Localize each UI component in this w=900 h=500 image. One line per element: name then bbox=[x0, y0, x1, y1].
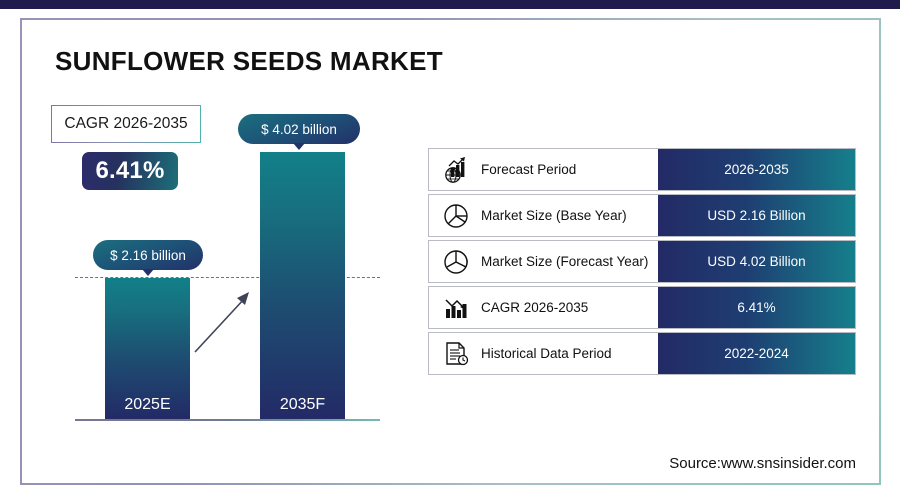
table-row-value: 6.41% bbox=[658, 287, 855, 328]
table-row: Market Size (Forecast Year) USD 4.02 Bil… bbox=[428, 240, 856, 283]
chart-baseline-axis bbox=[75, 419, 380, 421]
table-row: Forecast Period 2026-2035 bbox=[428, 148, 856, 191]
bar-value-label-2035f: $ 4.02 billion bbox=[261, 122, 337, 137]
table-row-value: USD 4.02 Billion bbox=[658, 241, 855, 282]
table-row-label: Market Size (Forecast Year) bbox=[481, 254, 648, 269]
table-row-label: Forecast Period bbox=[481, 162, 576, 177]
table-row-label: Market Size (Base Year) bbox=[481, 208, 627, 223]
bar-category-label-2025e: 2025E bbox=[105, 396, 190, 414]
bar-chart: $ 2.16 billion $ 4.02 billion 2025E 2035… bbox=[0, 0, 420, 440]
table-row-value: USD 2.16 Billion bbox=[658, 195, 855, 236]
growth-arrow-icon bbox=[185, 282, 260, 357]
table-row-label: CAGR 2026-2035 bbox=[481, 300, 588, 315]
globe-growth-chart-icon bbox=[439, 153, 473, 187]
table-row-value: 2026-2035 bbox=[658, 149, 855, 190]
bar-category-label-2035f: 2035F bbox=[260, 396, 345, 414]
pie-chart-icon bbox=[439, 245, 473, 279]
bar-value-label-2025e: $ 2.16 billion bbox=[110, 248, 186, 263]
infographic-page: SUNFLOWER SEEDS MARKET CAGR 2026-2035 6.… bbox=[0, 0, 900, 500]
document-clock-icon bbox=[439, 337, 473, 371]
pie-chart-icon bbox=[439, 199, 473, 233]
bar-chart-down-arrow-icon bbox=[439, 291, 473, 325]
table-row-left: Forecast Period bbox=[429, 149, 658, 190]
table-row: CAGR 2026-2035 6.41% bbox=[428, 286, 856, 329]
table-row-left: Market Size (Forecast Year) bbox=[429, 241, 658, 282]
table-row: Market Size (Base Year) USD 2.16 Billion bbox=[428, 194, 856, 237]
table-row-value: 2022-2024 bbox=[658, 333, 855, 374]
table-row-left: CAGR 2026-2035 bbox=[429, 287, 658, 328]
summary-table: Forecast Period 2026-2035 Market Size (B… bbox=[428, 148, 856, 378]
table-row-left: Market Size (Base Year) bbox=[429, 195, 658, 236]
source-attribution: Source:www.snsinsider.com bbox=[669, 455, 856, 472]
table-row-left: Historical Data Period bbox=[429, 333, 658, 374]
bar-value-badge-2035f: $ 4.02 billion bbox=[238, 114, 360, 144]
bar-value-badge-2025e: $ 2.16 billion bbox=[93, 240, 203, 270]
bar-2035f bbox=[260, 152, 345, 419]
table-row-label: Historical Data Period bbox=[481, 346, 612, 361]
table-row: Historical Data Period 2022-2024 bbox=[428, 332, 856, 375]
